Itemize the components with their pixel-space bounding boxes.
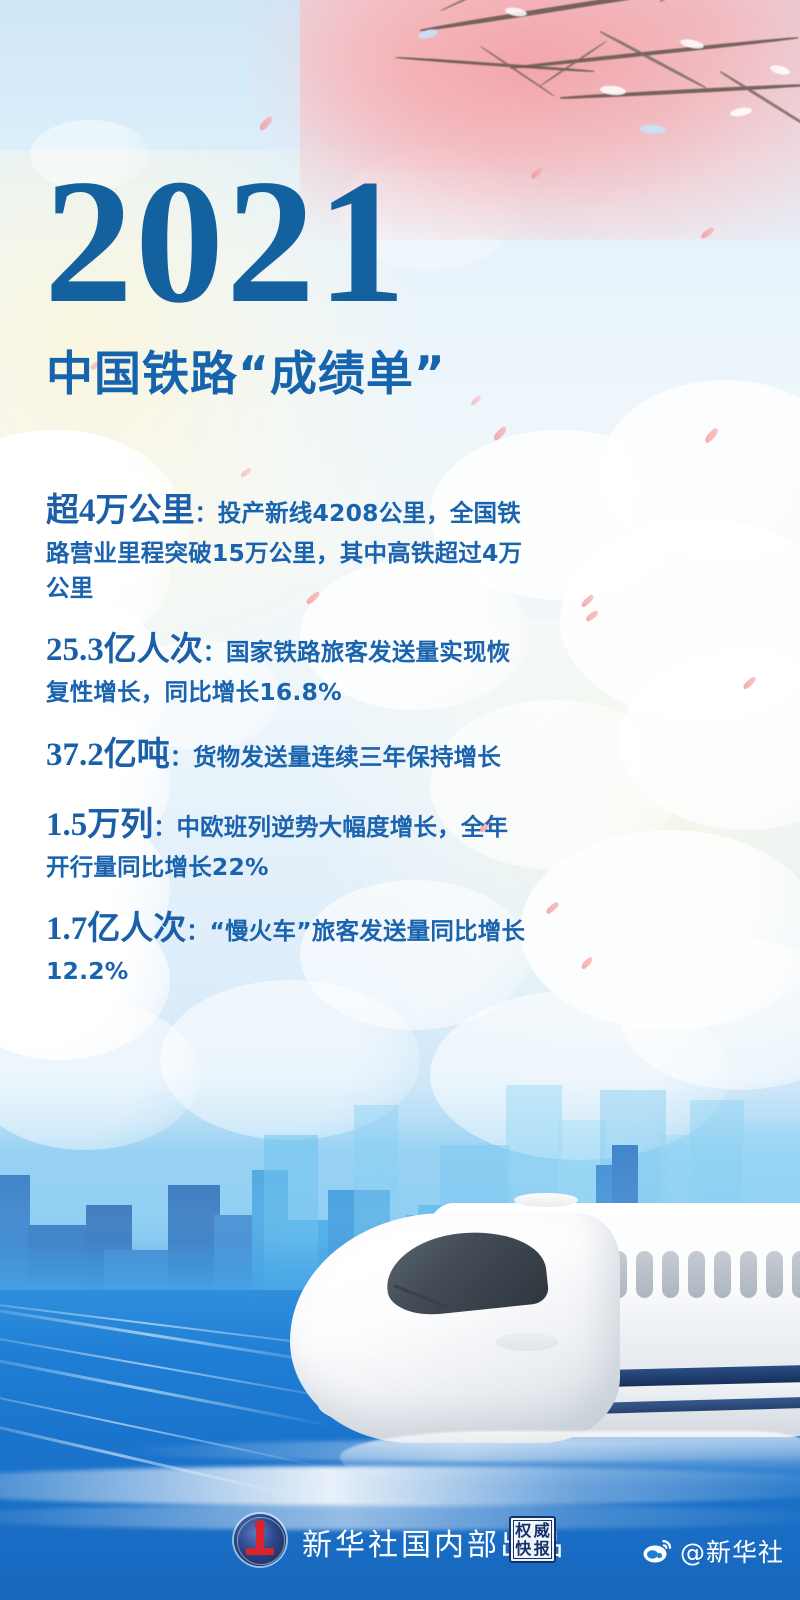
seal-char-2: 威 [533, 1522, 552, 1540]
stat-item: 超4万公里：投产新线4208公里，全国铁路营业里程突破15万公里，其中高铁超过4… [46, 487, 526, 605]
weibo-handle: @新华社 [680, 1533, 784, 1569]
seal-char-4: 报 [533, 1540, 552, 1558]
stat-item: 25.3亿人次：国家铁路旅客发送量实现恢复性增长，同比增长16.8% [46, 626, 526, 710]
stat-lead: 37.2亿吨 [46, 737, 170, 773]
poster-canvas: 2021 中国铁路“成绩单” 超4万公里：投产新线4208公里，全国铁路营业里程… [0, 0, 800, 1600]
xinhua-logo-icon [234, 1514, 286, 1566]
stat-colon: ： [186, 919, 209, 945]
stat-colon: ： [203, 640, 226, 666]
page-subtitle: 中国铁路“成绩单” [46, 348, 446, 402]
seal-stamp: 权 威 快 报 [509, 1516, 556, 1563]
stats-list: 超4万公里：投产新线4208公里，全国铁路营业里程突破15万公里，其中高铁超过4… [46, 487, 526, 1010]
weibo-credit[interactable]: @新华社 [643, 1533, 784, 1569]
seal-char-1: 权 [514, 1522, 533, 1540]
stat-lead: 25.3亿人次 [46, 632, 203, 668]
stat-item: 37.2亿吨：货物发送量连续三年保持增长 [46, 731, 526, 780]
seal-char-3: 快 [514, 1540, 533, 1558]
stat-colon: ： [170, 745, 193, 771]
stat-colon: ： [195, 501, 218, 527]
stat-detail: 货物发送量连续三年保持增长 [193, 743, 501, 771]
page-title-year: 2021 [44, 152, 408, 330]
stat-lead: 1.5万列 [46, 807, 153, 843]
stat-item: 1.7亿人次：“慢火车”旅客发送量同比增长12.2% [46, 905, 526, 989]
stat-lead: 1.7亿人次 [46, 911, 186, 947]
stat-lead: 超4万公里 [46, 493, 195, 529]
stat-item: 1.5万列：中欧班列逆势大幅度增长，全年开行量同比增长22% [46, 801, 526, 885]
stat-colon: ： [153, 815, 176, 841]
weibo-icon [643, 1538, 673, 1564]
high-speed-train-illustration [300, 1155, 800, 1515]
